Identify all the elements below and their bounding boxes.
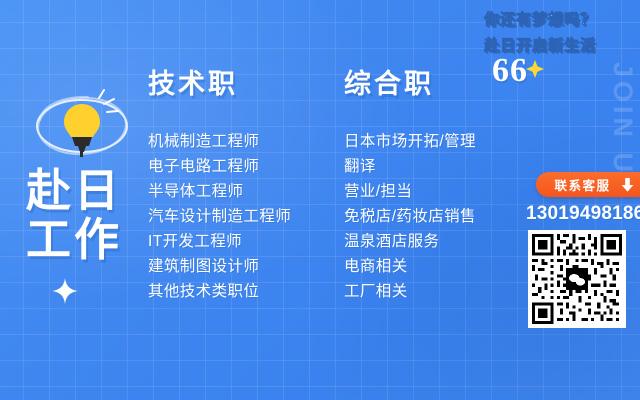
list-item: 电商相关: [344, 254, 476, 279]
page-title: 赴日 工作: [26, 166, 122, 264]
lightbulb-icon: [28, 82, 136, 168]
list-item: IT开发工程师: [148, 229, 291, 254]
star-icon: [526, 60, 544, 78]
slogan-line-2: 赴日开启新生活: [456, 34, 624, 55]
phone-number: 13019498186: [526, 203, 630, 225]
page-title-line1: 赴日: [26, 165, 122, 216]
job-list-general: 日本市场开拓/管理 翻译 营业/担当 免税店/药妆店销售 温泉酒店服务 电商相关…: [344, 129, 476, 304]
list-item: 建筑制图设计师: [148, 254, 291, 279]
column-technical: 技术职 机械制造工程师 电子电路工程师 半导体工程师 汽车设计制造工程师 IT开…: [148, 62, 291, 304]
column-heading-general: 综合职: [344, 62, 476, 101]
arrow-down-icon: [621, 178, 634, 192]
list-item: 翻译: [344, 154, 476, 179]
list-item: 温泉酒店服务: [344, 229, 476, 254]
contact-support-label: 联系客服: [554, 175, 610, 194]
column-heading-technical: 技术职: [148, 62, 291, 101]
contact-support-button[interactable]: 联系客服: [536, 172, 640, 197]
list-item: 汽车设计制造工程师: [148, 204, 291, 229]
slogan-block: 你还有梦想吗？ 赴日开启新生活: [456, 8, 624, 55]
list-item: 半导体工程师: [148, 179, 291, 204]
list-item: 其他技术类职位: [148, 279, 291, 304]
list-item: 日本市场开拓/管理: [344, 129, 476, 154]
column-general: 综合职 日本市场开拓/管理 翻译 营业/担当 免税店/药妆店销售 温泉酒店服务 …: [344, 62, 476, 304]
sparkle-icon: [52, 278, 78, 304]
list-item: 机械制造工程师: [148, 129, 291, 154]
qr-code-icon: [532, 234, 622, 324]
slogan-line-1: 你还有梦想吗？: [456, 8, 624, 29]
list-item: 电子电路工程师: [148, 154, 291, 179]
list-item: 工厂相关: [344, 279, 476, 304]
job-list-technical: 机械制造工程师 电子电路工程师 半导体工程师 汽车设计制造工程师 IT开发工程师…: [148, 129, 291, 304]
list-item: 营业/担当: [344, 179, 476, 204]
quote-mark-icon: 66: [492, 54, 528, 88]
qr-code[interactable]: [528, 230, 626, 328]
poster-canvas: 赴日 工作 技术职 机械制造工程师 电子电路工程师 半导体工程师 汽车设计制造工…: [0, 0, 640, 400]
page-title-line2: 工作: [26, 215, 122, 264]
lightbulb-badge: [28, 82, 136, 168]
list-item: 免税店/药妆店销售: [344, 204, 476, 229]
